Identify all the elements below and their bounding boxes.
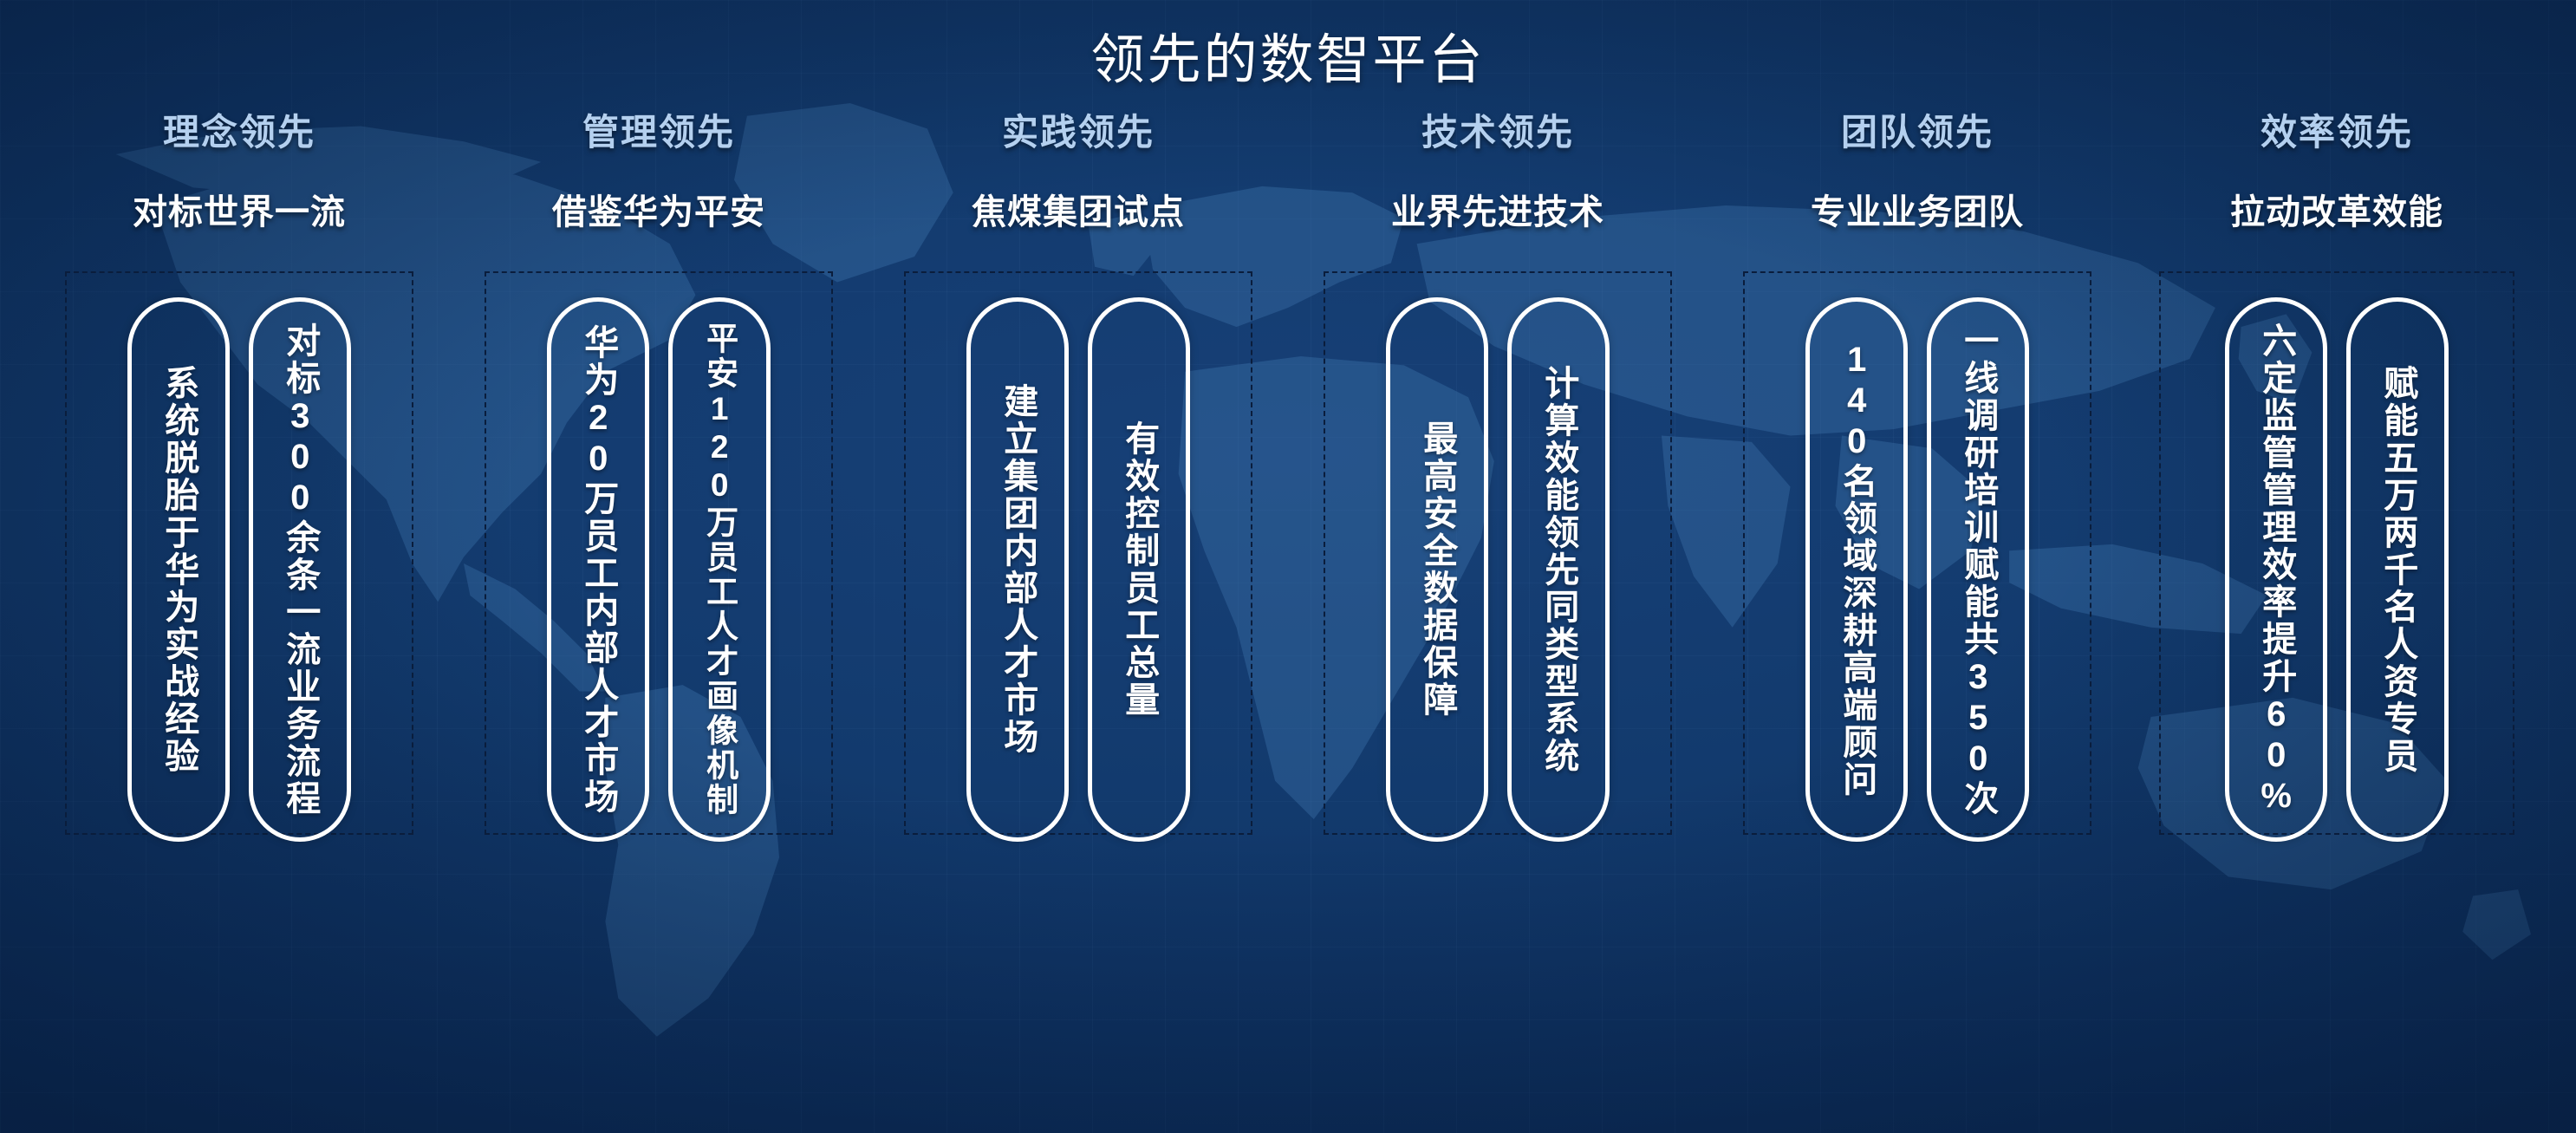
column-1-pill-1[interactable]: 系统脱胎于华为实战经验 (127, 297, 230, 842)
column-3: 实践领先 焦煤集团试点 建立集团内部人才市场 有效控制员工总量 (868, 108, 1288, 1097)
column-1-heading: 理念领先 (163, 108, 315, 157)
column-4-heading: 技术领先 (1421, 108, 1574, 157)
column-4-pill-1-label: 最高安全数据保障 (1419, 420, 1455, 719)
column-6-pill-1-label: 六定监管管理效率提升60% (2258, 322, 2294, 817)
column-4-pill-2[interactable]: 计算效能领先同类型系统 (1507, 297, 1610, 842)
column-4-pill-2-label: 计算效能领先同类型系统 (1540, 365, 1577, 775)
column-4-pill-1[interactable]: 最高安全数据保障 (1386, 297, 1488, 842)
column-1-pill-2[interactable]: 对标300余条一流业务流程 (249, 297, 351, 842)
column-6-pill-2[interactable]: 赋能五万两千名人资专员 (2346, 297, 2449, 842)
column-1-dashed-box: 系统脱胎于华为实战经验 对标300余条一流业务流程 (65, 271, 413, 835)
column-5-pill-2-label: 一线调研培训赋能共350次 (1960, 322, 1996, 817)
column-5-subheading: 专业业务团队 (1811, 190, 2024, 235)
column-3-pill-2-label: 有效控制员工总量 (1121, 420, 1157, 719)
column-2-pill-2[interactable]: 平安120万员工人才画像机制 (668, 297, 771, 842)
column-1-pill-1-label: 系统脱胎于华为实战经验 (160, 365, 197, 775)
column-2-pill-1[interactable]: 华为20万员工内部人才市场 (547, 297, 649, 842)
column-3-heading: 实践领先 (1002, 108, 1155, 157)
column-5-pill-1[interactable]: 140名领域深耕高端顾问 (1805, 297, 1908, 842)
column-3-dashed-box: 建立集团内部人才市场 有效控制员工总量 (904, 271, 1252, 835)
column-2-pill-1-label: 华为20万员工内部人才市场 (580, 324, 616, 816)
column-3-pill-1[interactable]: 建立集团内部人才市场 (966, 297, 1069, 842)
column-2: 管理领先 借鉴华为平安 华为20万员工内部人才市场 平安120万员工人才画像机制 (449, 108, 868, 1097)
page-title: 领先的数智平台 (0, 16, 2576, 94)
column-2-dashed-box: 华为20万员工内部人才市场 平安120万员工人才画像机制 (485, 271, 833, 835)
column-4: 技术领先 业界先进技术 最高安全数据保障 计算效能领先同类型系统 (1288, 108, 1708, 1097)
column-6-pill-2-label: 赋能五万两千名人资专员 (2379, 365, 2416, 775)
column-6-pill-1[interactable]: 六定监管管理效率提升60% (2225, 297, 2327, 842)
column-6-dashed-box: 六定监管管理效率提升60% 赋能五万两千名人资专员 (2159, 271, 2514, 835)
column-1: 理念领先 对标世界一流 系统脱胎于华为实战经验 对标300余条一流业务流程 (29, 108, 449, 1097)
column-5-pill-1-label: 140名领域深耕高端顾问 (1838, 341, 1875, 798)
column-3-pill-1-label: 建立集团内部人才市场 (999, 383, 1036, 756)
column-2-heading: 管理领先 (582, 108, 735, 157)
column-4-subheading: 业界先进技术 (1391, 190, 1604, 235)
column-3-pill-2[interactable]: 有效控制员工总量 (1088, 297, 1190, 842)
column-2-subheading: 借鉴华为平安 (552, 190, 765, 235)
column-1-subheading: 对标世界一流 (133, 190, 346, 235)
column-2-pill-2-label: 平安120万员工人才画像机制 (702, 322, 736, 817)
column-5-pill-2[interactable]: 一线调研培训赋能共350次 (1927, 297, 2029, 842)
column-6-heading: 效率领先 (2261, 108, 2413, 157)
columns-container: 理念领先 对标世界一流 系统脱胎于华为实战经验 对标300余条一流业务流程 管理… (0, 108, 2576, 1097)
column-1-pill-2-label: 对标300余条一流业务流程 (282, 322, 318, 817)
column-5-dashed-box: 140名领域深耕高端顾问 一线调研培训赋能共350次 (1743, 271, 2091, 835)
column-6-subheading: 拉动改革效能 (2230, 190, 2443, 235)
column-4-dashed-box: 最高安全数据保障 计算效能领先同类型系统 (1324, 271, 1672, 835)
column-6: 效率领先 拉动改革效能 六定监管管理效率提升60% 赋能五万两千名人资专员 (2127, 108, 2547, 1097)
slide-canvas: 领先的数智平台 理念领先 对标世界一流 系统脱胎于华为实战经验 对标300余条一… (0, 0, 2576, 1133)
column-5: 团队领先 专业业务团队 140名领域深耕高端顾问 一线调研培训赋能共350次 (1708, 108, 2127, 1097)
column-5-heading: 团队领先 (1841, 108, 1994, 157)
column-3-subheading: 焦煤集团试点 (972, 190, 1185, 235)
